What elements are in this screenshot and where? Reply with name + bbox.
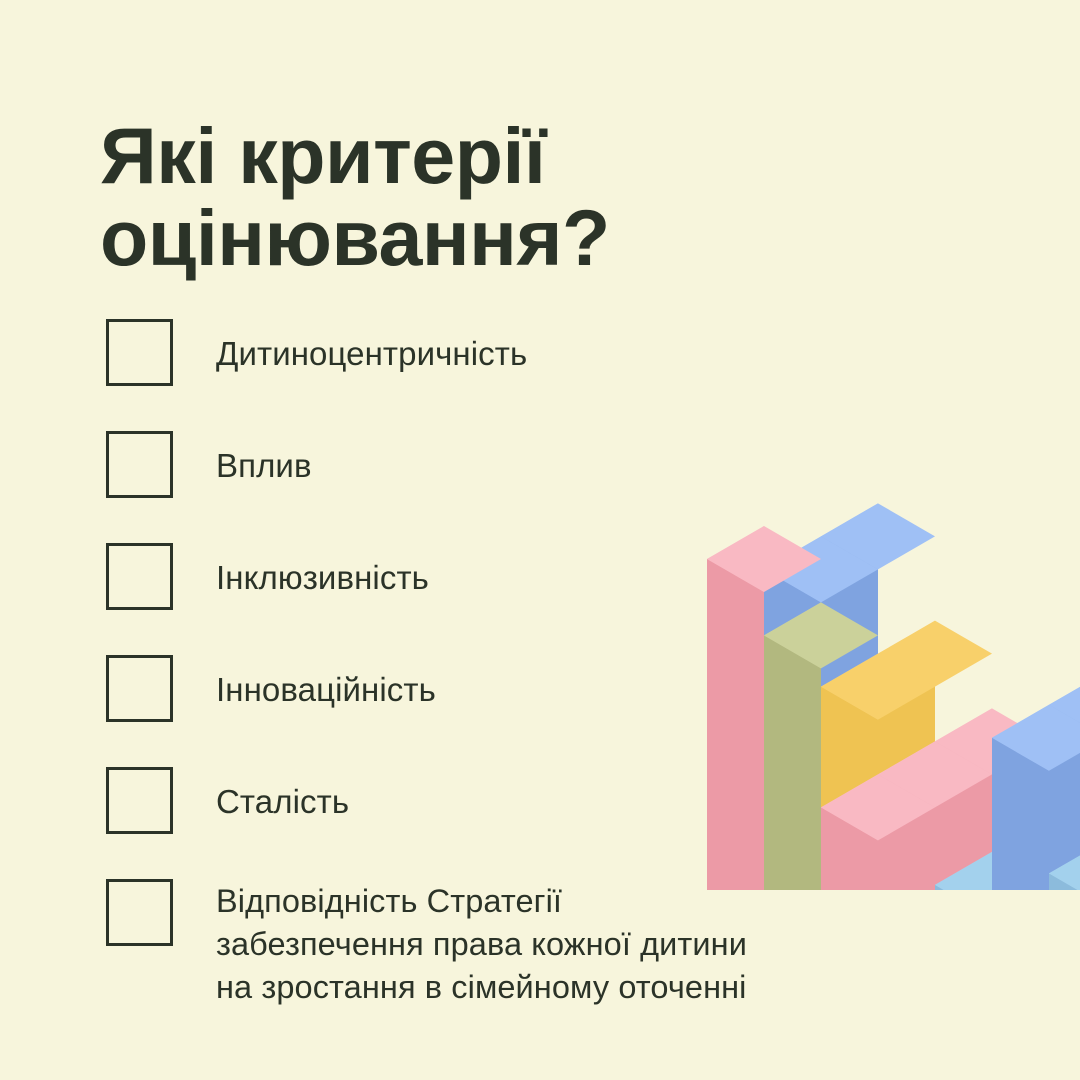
cube-face-right — [992, 738, 1049, 1033]
checkbox-icon[interactable] — [106, 767, 173, 834]
criteria-checklist: ДитиноцентричністьВпливІнклюзивністьІнно… — [106, 318, 986, 1018]
cube-face-left — [992, 951, 1049, 1066]
checkbox-icon[interactable] — [106, 655, 173, 722]
cube-face-left — [992, 819, 1049, 934]
cube-face-right — [1049, 873, 1080, 1066]
checklist-item[interactable]: Сталість — [106, 766, 986, 834]
cube-face-right — [1049, 705, 1080, 1000]
cube-face-top — [1049, 672, 1080, 738]
checklist-item[interactable]: Інноваційність — [106, 654, 986, 722]
checkbox-icon[interactable] — [106, 431, 173, 498]
checklist-item-label: Інклюзивність — [216, 542, 429, 594]
checklist-item[interactable]: Дитиноцентричність — [106, 318, 986, 386]
cube-face-top — [1049, 840, 1080, 906]
checklist-item-label: Дитиноцентричність — [216, 318, 527, 370]
checklist-item[interactable]: Інклюзивність — [106, 542, 986, 610]
checkbox-icon[interactable] — [106, 543, 173, 610]
checklist-item[interactable]: Відповідність Стратегії забезпечення пра… — [106, 878, 986, 1009]
checklist-item-label: Вплив — [216, 430, 312, 482]
cube-face-left — [992, 705, 1049, 1000]
cube-face-right — [1049, 939, 1080, 1080]
cube-face-right — [992, 984, 1049, 1080]
checklist-item-label: Сталість — [216, 766, 349, 818]
cube-face-left — [1049, 672, 1080, 967]
checklist-item[interactable]: Вплив — [106, 430, 986, 498]
cube-face-top — [992, 819, 1080, 885]
cube-face-left — [1049, 840, 1080, 1033]
checklist-item-label: Відповідність Стратегії забезпечення пра… — [216, 878, 747, 1009]
cube-face-top — [1049, 906, 1080, 972]
cube-face-top — [992, 951, 1080, 1017]
cube-face-right — [992, 852, 1049, 967]
poster-canvas: Які критерії оцінювання? Дитиноцентричні… — [0, 0, 1080, 1080]
cube-face-left — [1049, 906, 1080, 1080]
checkbox-icon[interactable] — [106, 879, 173, 946]
checklist-item-label: Інноваційність — [216, 654, 436, 706]
checkbox-icon[interactable] — [106, 319, 173, 386]
page-title: Які критерії оцінювання? — [100, 115, 760, 279]
cube-face-top — [992, 705, 1080, 771]
